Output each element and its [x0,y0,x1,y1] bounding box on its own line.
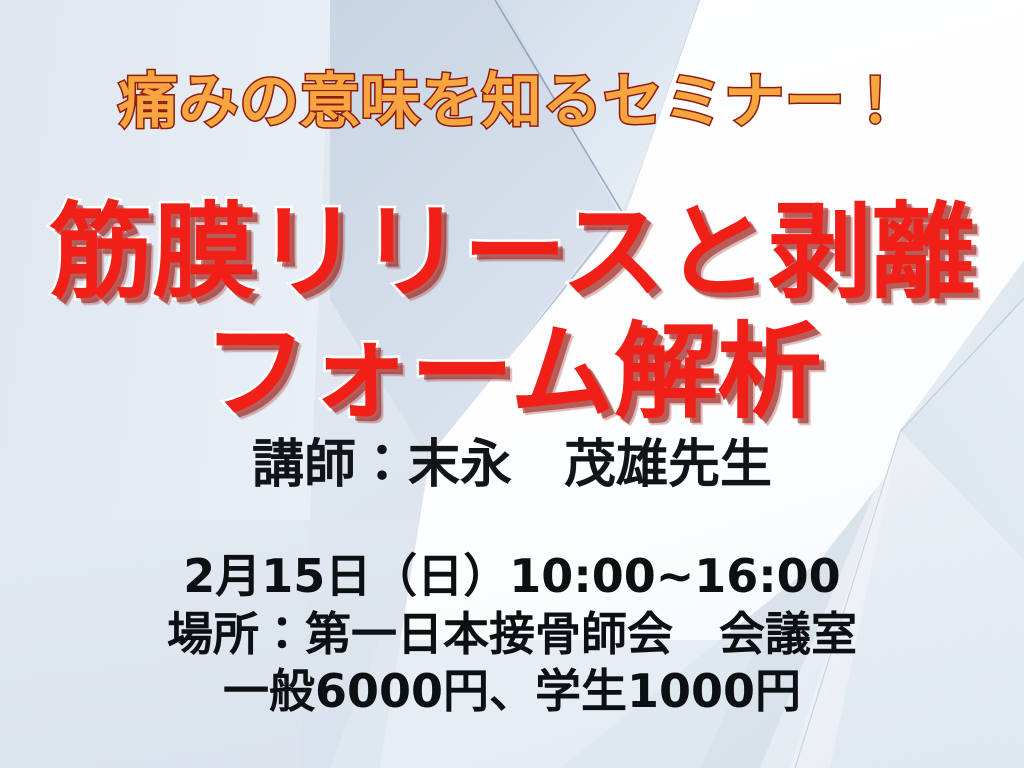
poster-details-block: 2月15日（日）10:00~16:00 場所：第一日本接骨師会 会議室 一般60… [0,548,1024,721]
poster-detail-price: 一般6000円、学生1000円 [0,663,1024,721]
poster-kicker-heading: 痛みの意味を知るセミナー！ [0,72,1024,132]
poster-title-line-2: フォーム解析 [0,316,1024,428]
seminar-poster-slide: 痛みの意味を知るセミナー！ 筋膜リリースと剥離 フォーム解析 講師：末永 茂雄先… [0,0,1024,768]
poster-instructor-line: 講師：末永 茂雄先生 [0,436,1024,496]
poster-detail-datetime: 2月15日（日）10:00~16:00 [0,548,1024,606]
poster-main-title: 筋膜リリースと剥離 フォーム解析 [0,196,1024,429]
poster-detail-venue: 場所：第一日本接骨師会 会議室 [0,606,1024,664]
poster-title-line-1: 筋膜リリースと剥離 [0,196,1024,308]
poster-content: 痛みの意味を知るセミナー！ 筋膜リリースと剥離 フォーム解析 講師：末永 茂雄先… [0,0,1024,768]
